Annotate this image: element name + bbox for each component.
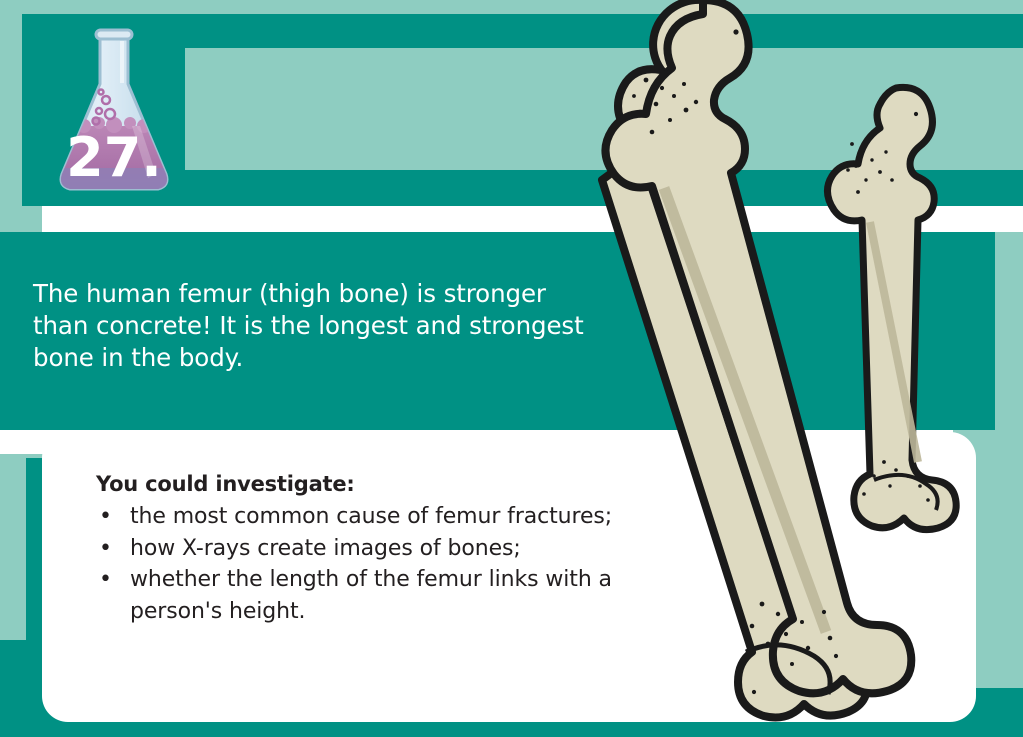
bullet-icon: • [99, 564, 112, 596]
white-divider-top [42, 206, 1023, 232]
list-item-label: the most common cause of femur fractures… [130, 504, 612, 529]
list-item: • whether the length of the femur links … [96, 564, 696, 627]
investigate-heading: You could investigate: [96, 470, 696, 498]
investigate-list: • the most common cause of femur fractur… [96, 501, 696, 627]
card-number: 27. [66, 126, 162, 189]
bullet-icon: • [99, 501, 112, 533]
list-item: • how X-rays create images of bones; [96, 533, 696, 565]
fact-card-poster: 27. [0, 0, 1023, 737]
erlenmeyer-flask-icon: 27. [44, 8, 184, 208]
list-item-label: whether the length of the femur links wi… [130, 567, 612, 624]
list-item-label: how X-rays create images of bones; [130, 536, 521, 561]
investigate-block: You could investigate: • the most common… [96, 470, 696, 627]
flask-badge: 27. [44, 8, 184, 208]
fact-text: The human femur (thigh bone) is stronger… [33, 278, 603, 374]
bottom-strip [0, 720, 1023, 737]
list-item: • the most common cause of femur fractur… [96, 501, 696, 533]
header-inset-panel [185, 48, 1023, 170]
bullet-icon: • [99, 533, 112, 565]
